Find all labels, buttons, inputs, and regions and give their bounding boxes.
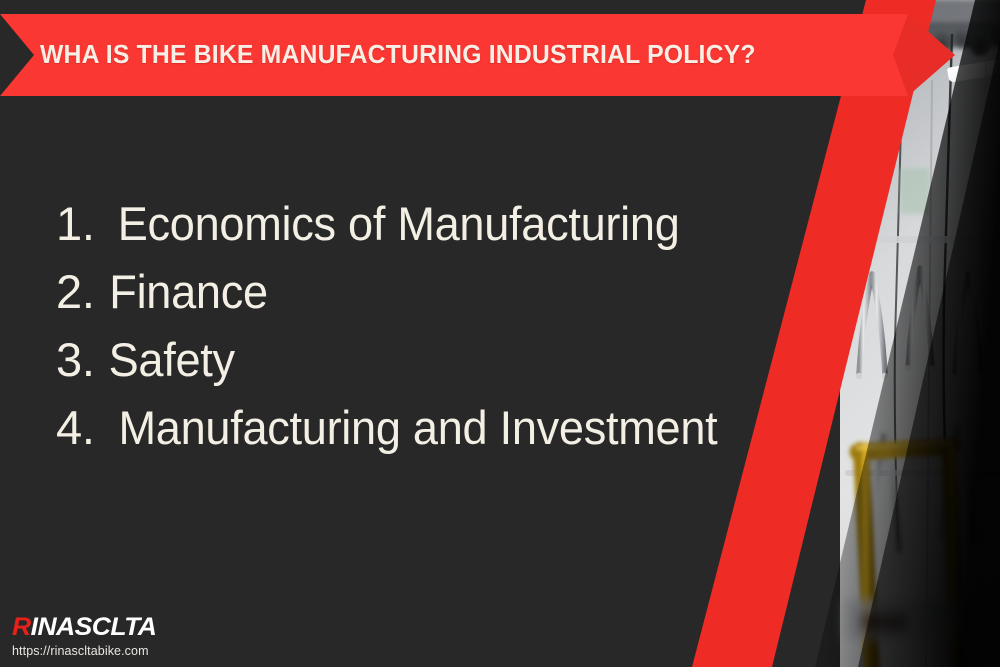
- list-item: 2. Finance: [56, 264, 886, 332]
- title-ribbon: WHA IS THE BIKE MANUFACTURING INDUSTRIAL…: [0, 14, 955, 96]
- logo-wordmark-rest: INASCLTA: [31, 613, 157, 641]
- list-item-number: 4.: [56, 400, 106, 455]
- page-title: WHA IS THE BIKE MANUFACTURING INDUSTRIAL…: [40, 14, 756, 96]
- list-item-number: 3.: [56, 332, 106, 387]
- list-item-number: 1.: [56, 196, 106, 251]
- brand-logo[interactable]: RINASCLTA https://rinascltabike.com: [12, 615, 149, 658]
- logo-url[interactable]: https://rinascltabike.com: [12, 645, 149, 658]
- list-item-label: Finance: [109, 264, 268, 319]
- list-item-label: Safety: [109, 332, 235, 387]
- agenda-list: 1. Economics of Manufacturing 2. Finance…: [56, 196, 886, 468]
- list-item-label: Economics of Manufacturing: [118, 196, 680, 251]
- list-item: 3. Safety: [56, 332, 886, 400]
- list-item-label: Manufacturing and Investment: [118, 400, 717, 455]
- list-item-number: 2.: [56, 264, 106, 319]
- logo-initial: R: [12, 613, 31, 641]
- list-item: 4. Manufacturing and Investment: [56, 400, 886, 468]
- list-item: 1. Economics of Manufacturing: [56, 196, 886, 264]
- logo-wordmark: RINASCLTA: [12, 615, 156, 640]
- slide-canvas: WHA IS THE BIKE MANUFACTURING INDUSTRIAL…: [0, 0, 1000, 667]
